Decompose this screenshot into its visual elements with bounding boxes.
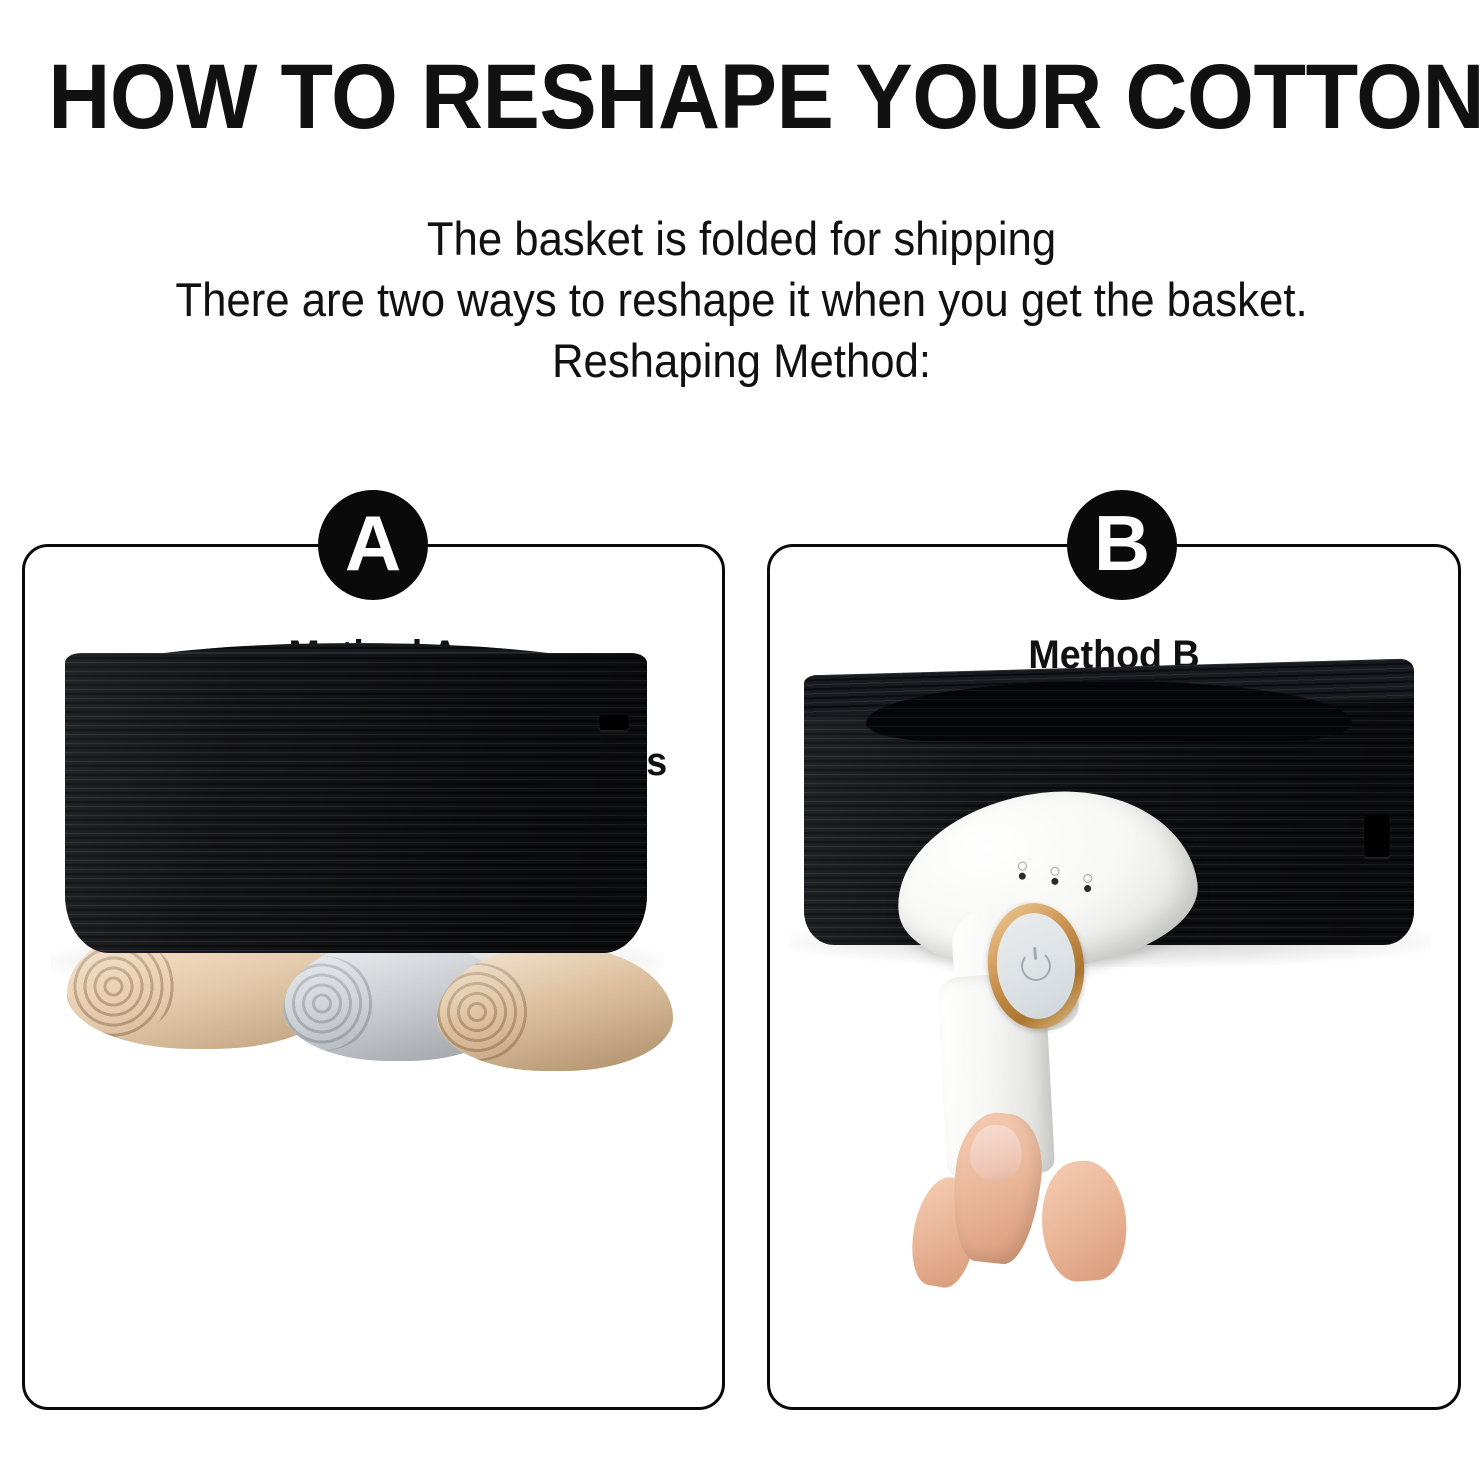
basket-rib-texture xyxy=(65,653,647,953)
hand-holding-steamer xyxy=(908,1103,1148,1293)
page-title: HOW TO RESHAPE YOUR COTTON BASKET xyxy=(48,47,1435,147)
basket-sheen xyxy=(65,653,647,953)
power-icon xyxy=(1020,950,1053,983)
finger xyxy=(1038,1158,1130,1284)
subtitle-line-1: The basket is folded for shipping xyxy=(52,208,1431,269)
method-a-card: Method A Stuffing the basket with blan- … xyxy=(22,544,725,1410)
method-a-photo xyxy=(25,547,722,1407)
basket-a-body xyxy=(65,653,647,953)
blanket-tan-roll xyxy=(437,945,673,1071)
subtitle-block: The basket is folded for shipping There … xyxy=(52,208,1431,391)
infographic-root: HOW TO RESHAPE YOUR COTTON BASKET The ba… xyxy=(0,0,1483,1483)
method-b-card: Method B Steaming a basket on a steam ir… xyxy=(767,544,1461,1410)
blanket-gloss xyxy=(437,945,673,1071)
garment-steamer xyxy=(822,707,1242,1307)
method-b-photo xyxy=(770,547,1458,1407)
badge-b: B xyxy=(1067,490,1177,600)
badge-a: A xyxy=(318,490,428,600)
basket-handle-slot xyxy=(1364,815,1390,857)
power-button-face xyxy=(993,910,1080,1022)
basket-handle-slot xyxy=(599,715,629,730)
subtitle-line-3: Reshaping Method: xyxy=(52,330,1431,391)
subtitle-line-2: There are two ways to reshape it when yo… xyxy=(52,269,1431,330)
